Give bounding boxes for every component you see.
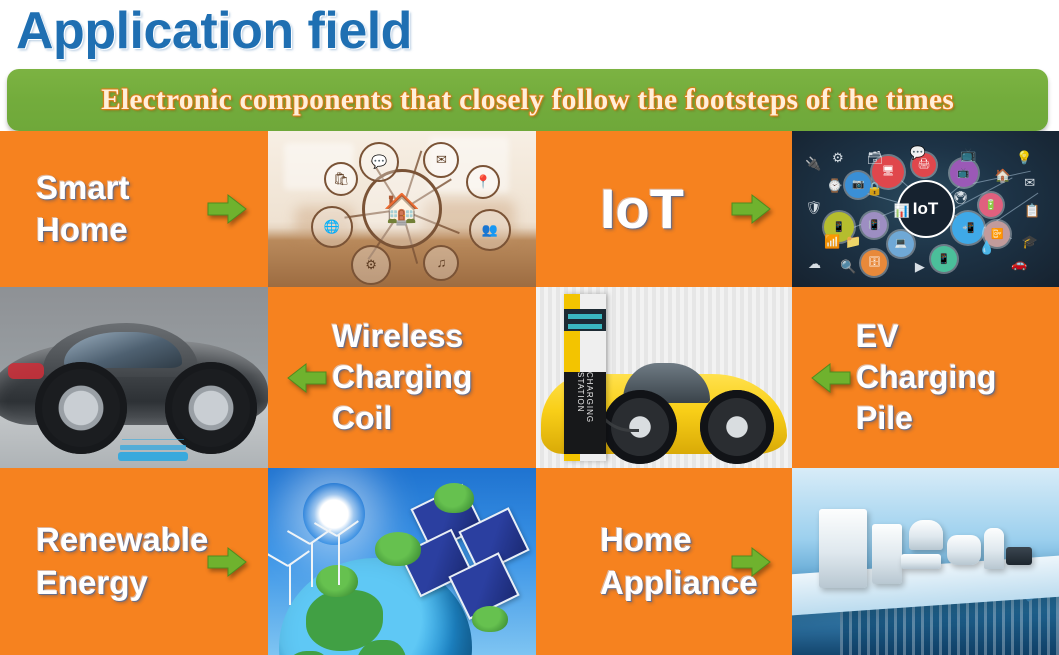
wind-turbine-icon — [338, 535, 340, 585]
server-icon: 🗄 — [861, 250, 887, 276]
cell-iot-image: IoT 🖥 🖨 📺 📷 🔋 📱 📳 📲 📴 💻 🗄 📱 🔌 ⚙ 🗃 💬 📺 💡 — [792, 131, 1059, 287]
arrow-right-icon — [730, 545, 772, 579]
cooktop-icon — [901, 554, 941, 569]
wind-turbine-icon — [311, 543, 313, 587]
battery-icon: 🔋 — [979, 193, 1003, 217]
microwave-icon — [947, 535, 981, 565]
device-icon: 📳 — [861, 212, 887, 238]
iot-network-illustration: IoT 🖥 🖨 📺 📷 🔋 📱 📳 📲 📴 💻 🗄 📱 🔌 ⚙ 🗃 💬 📺 💡 — [792, 131, 1059, 287]
location-pin-icon: 📍 — [466, 165, 500, 199]
music-icon: ♫ — [423, 245, 459, 281]
application-field-slide: Application field Electronic components … — [0, 0, 1059, 655]
silver-sports-car-photo — [0, 287, 268, 468]
label-smart-home: Smart Home — [36, 167, 130, 251]
cell-iot[interactable]: IoT — [536, 131, 792, 287]
refrigerator-icon — [819, 509, 867, 588]
label-iot: IoT — [600, 178, 684, 240]
application-grid: Smart Home 🏠 💬 ✉ — [0, 131, 1059, 655]
wireless-charging-pad — [118, 452, 188, 461]
arrow-right-icon — [730, 192, 772, 226]
cell-home-appliance[interactable]: Home Appliance — [536, 468, 792, 655]
tv-icon: 📺 — [950, 159, 978, 187]
cell-ev-charging-pile[interactable]: EV Charging Pile — [792, 287, 1059, 468]
globe-icon: 🌐 — [311, 206, 353, 248]
arrow-right-icon — [206, 192, 248, 226]
smart-home-illustration: 🏠 💬 ✉ 📍 👥 ♫ ⚙ 🌐 🛍 — [268, 131, 536, 287]
solar-globe-illustration — [268, 468, 536, 655]
charging-station-label: CHARGING STATION — [564, 372, 606, 453]
chat-icon: 💬 — [359, 142, 399, 182]
arrow-left-icon — [810, 361, 852, 395]
wind-turbine-icon — [289, 565, 291, 605]
arrow-left-icon — [286, 361, 328, 395]
gears-icon: ⚙ — [351, 245, 391, 285]
cell-smart-home-image: 🏠 💬 ✉ 📍 👥 ♫ ⚙ 🌐 🛍 — [268, 131, 536, 287]
console-icon — [1006, 547, 1032, 566]
cell-home-appliance-image — [792, 468, 1059, 655]
people-icon: 👥 — [469, 209, 511, 251]
arrow-right-icon — [206, 545, 248, 579]
mobile-icon: 📱 — [931, 246, 957, 272]
cell-wireless-charging-coil[interactable]: Wireless Charging Coil — [268, 287, 536, 468]
boiler-icon — [984, 528, 1004, 569]
label-ev-charging-pile: EV Charging Pile — [856, 316, 996, 439]
home-appliances-photo — [792, 468, 1059, 655]
tagline-text: Electronic components that closely follo… — [101, 84, 954, 117]
cell-renewable-energy-image — [268, 468, 536, 655]
shopping-bag-icon: 🛍 — [324, 162, 358, 196]
range-hood-icon — [909, 520, 943, 550]
tagline-banner: Electronic components that closely follo… — [7, 69, 1048, 131]
ev-charging-station-photo: CHARGING STATION — [536, 287, 792, 468]
cell-ev-charging-image: CHARGING STATION — [536, 287, 792, 468]
cell-renewable-energy[interactable]: Renewable Energy — [0, 468, 268, 655]
laptop-icon: 💻 — [888, 231, 914, 257]
cell-silver-car-image — [0, 287, 268, 468]
page-title: Application field — [16, 0, 412, 62]
cell-smart-home[interactable]: Smart Home — [0, 131, 268, 287]
label-wireless-charging-coil: Wireless Charging Coil — [332, 316, 472, 439]
label-renewable-energy: Renewable Energy — [36, 519, 208, 603]
water-heater-icon — [872, 524, 902, 584]
